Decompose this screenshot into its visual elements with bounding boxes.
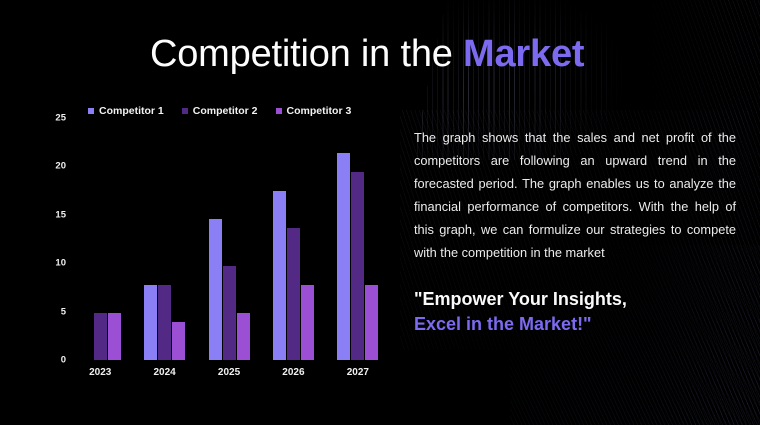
bar[interactable] [337, 153, 350, 360]
pull-quote: "Empower Your Insights, Excel in the Mar… [414, 287, 736, 337]
bar-group [326, 125, 390, 360]
legend-item[interactable]: Competitor 3 [276, 105, 352, 117]
legend-item[interactable]: Competitor 1 [88, 105, 164, 117]
bar[interactable] [287, 228, 300, 360]
legend-item[interactable]: Competitor 2 [182, 105, 258, 117]
bar-group [68, 125, 132, 360]
legend-item-label: Competitor 3 [287, 105, 352, 117]
y-axis-tick-label: 15 [55, 209, 66, 220]
x-axis-tick-label: 2024 [132, 367, 196, 378]
pull-quote-line-1: "Empower Your Insights, [414, 287, 736, 312]
description-paragraph: The graph shows that the sales and net p… [414, 126, 736, 264]
legend-swatch-icon [88, 108, 94, 114]
bar[interactable] [158, 285, 171, 360]
page-title: Competition in the Market [150, 33, 584, 76]
bar[interactable] [108, 313, 121, 360]
bar[interactable] [223, 266, 236, 360]
chart-y-axis: 0510152025 [40, 118, 66, 360]
bar-group [132, 125, 196, 360]
chart-plot-area [68, 125, 390, 360]
bar[interactable] [301, 285, 314, 360]
x-axis-tick-label: 2025 [197, 367, 261, 378]
x-axis-tick-label: 2026 [261, 367, 325, 378]
legend-item-label: Competitor 2 [193, 105, 258, 117]
chart-bar-groups [68, 125, 390, 360]
bar[interactable] [351, 172, 364, 360]
bar[interactable] [172, 322, 185, 360]
x-axis-tick-label: 2023 [68, 367, 132, 378]
chart-x-axis: 20232024202520262027 [68, 362, 390, 386]
legend-swatch-icon [276, 108, 282, 114]
legend-swatch-icon [182, 108, 188, 114]
y-axis-tick-label: 5 [61, 306, 66, 317]
slide-canvas: Competition in the Market Competitor 1Co… [0, 0, 760, 425]
pull-quote-line-2: Excel in the Market!" [414, 312, 736, 337]
text-column: The graph shows that the sales and net p… [414, 126, 736, 337]
legend-item-label: Competitor 1 [99, 105, 164, 117]
bar[interactable] [273, 191, 286, 360]
bar-chart: 0510152025 20232024202520262027 [40, 118, 390, 386]
bar[interactable] [144, 285, 157, 360]
page-title-accent: Market [463, 33, 584, 75]
bar[interactable] [237, 313, 250, 360]
bar[interactable] [365, 285, 378, 360]
y-axis-tick-label: 25 [55, 113, 66, 124]
x-axis-tick-label: 2027 [326, 367, 390, 378]
bar[interactable] [209, 219, 222, 360]
chart-legend: Competitor 1Competitor 2Competitor 3 [88, 105, 351, 117]
bar-group [261, 125, 325, 360]
y-axis-tick-label: 0 [61, 355, 66, 366]
page-title-main: Competition in the [150, 33, 463, 75]
bar-group [197, 125, 261, 360]
y-axis-tick-label: 10 [55, 258, 66, 269]
bar[interactable] [94, 313, 107, 360]
y-axis-tick-label: 20 [55, 161, 66, 172]
